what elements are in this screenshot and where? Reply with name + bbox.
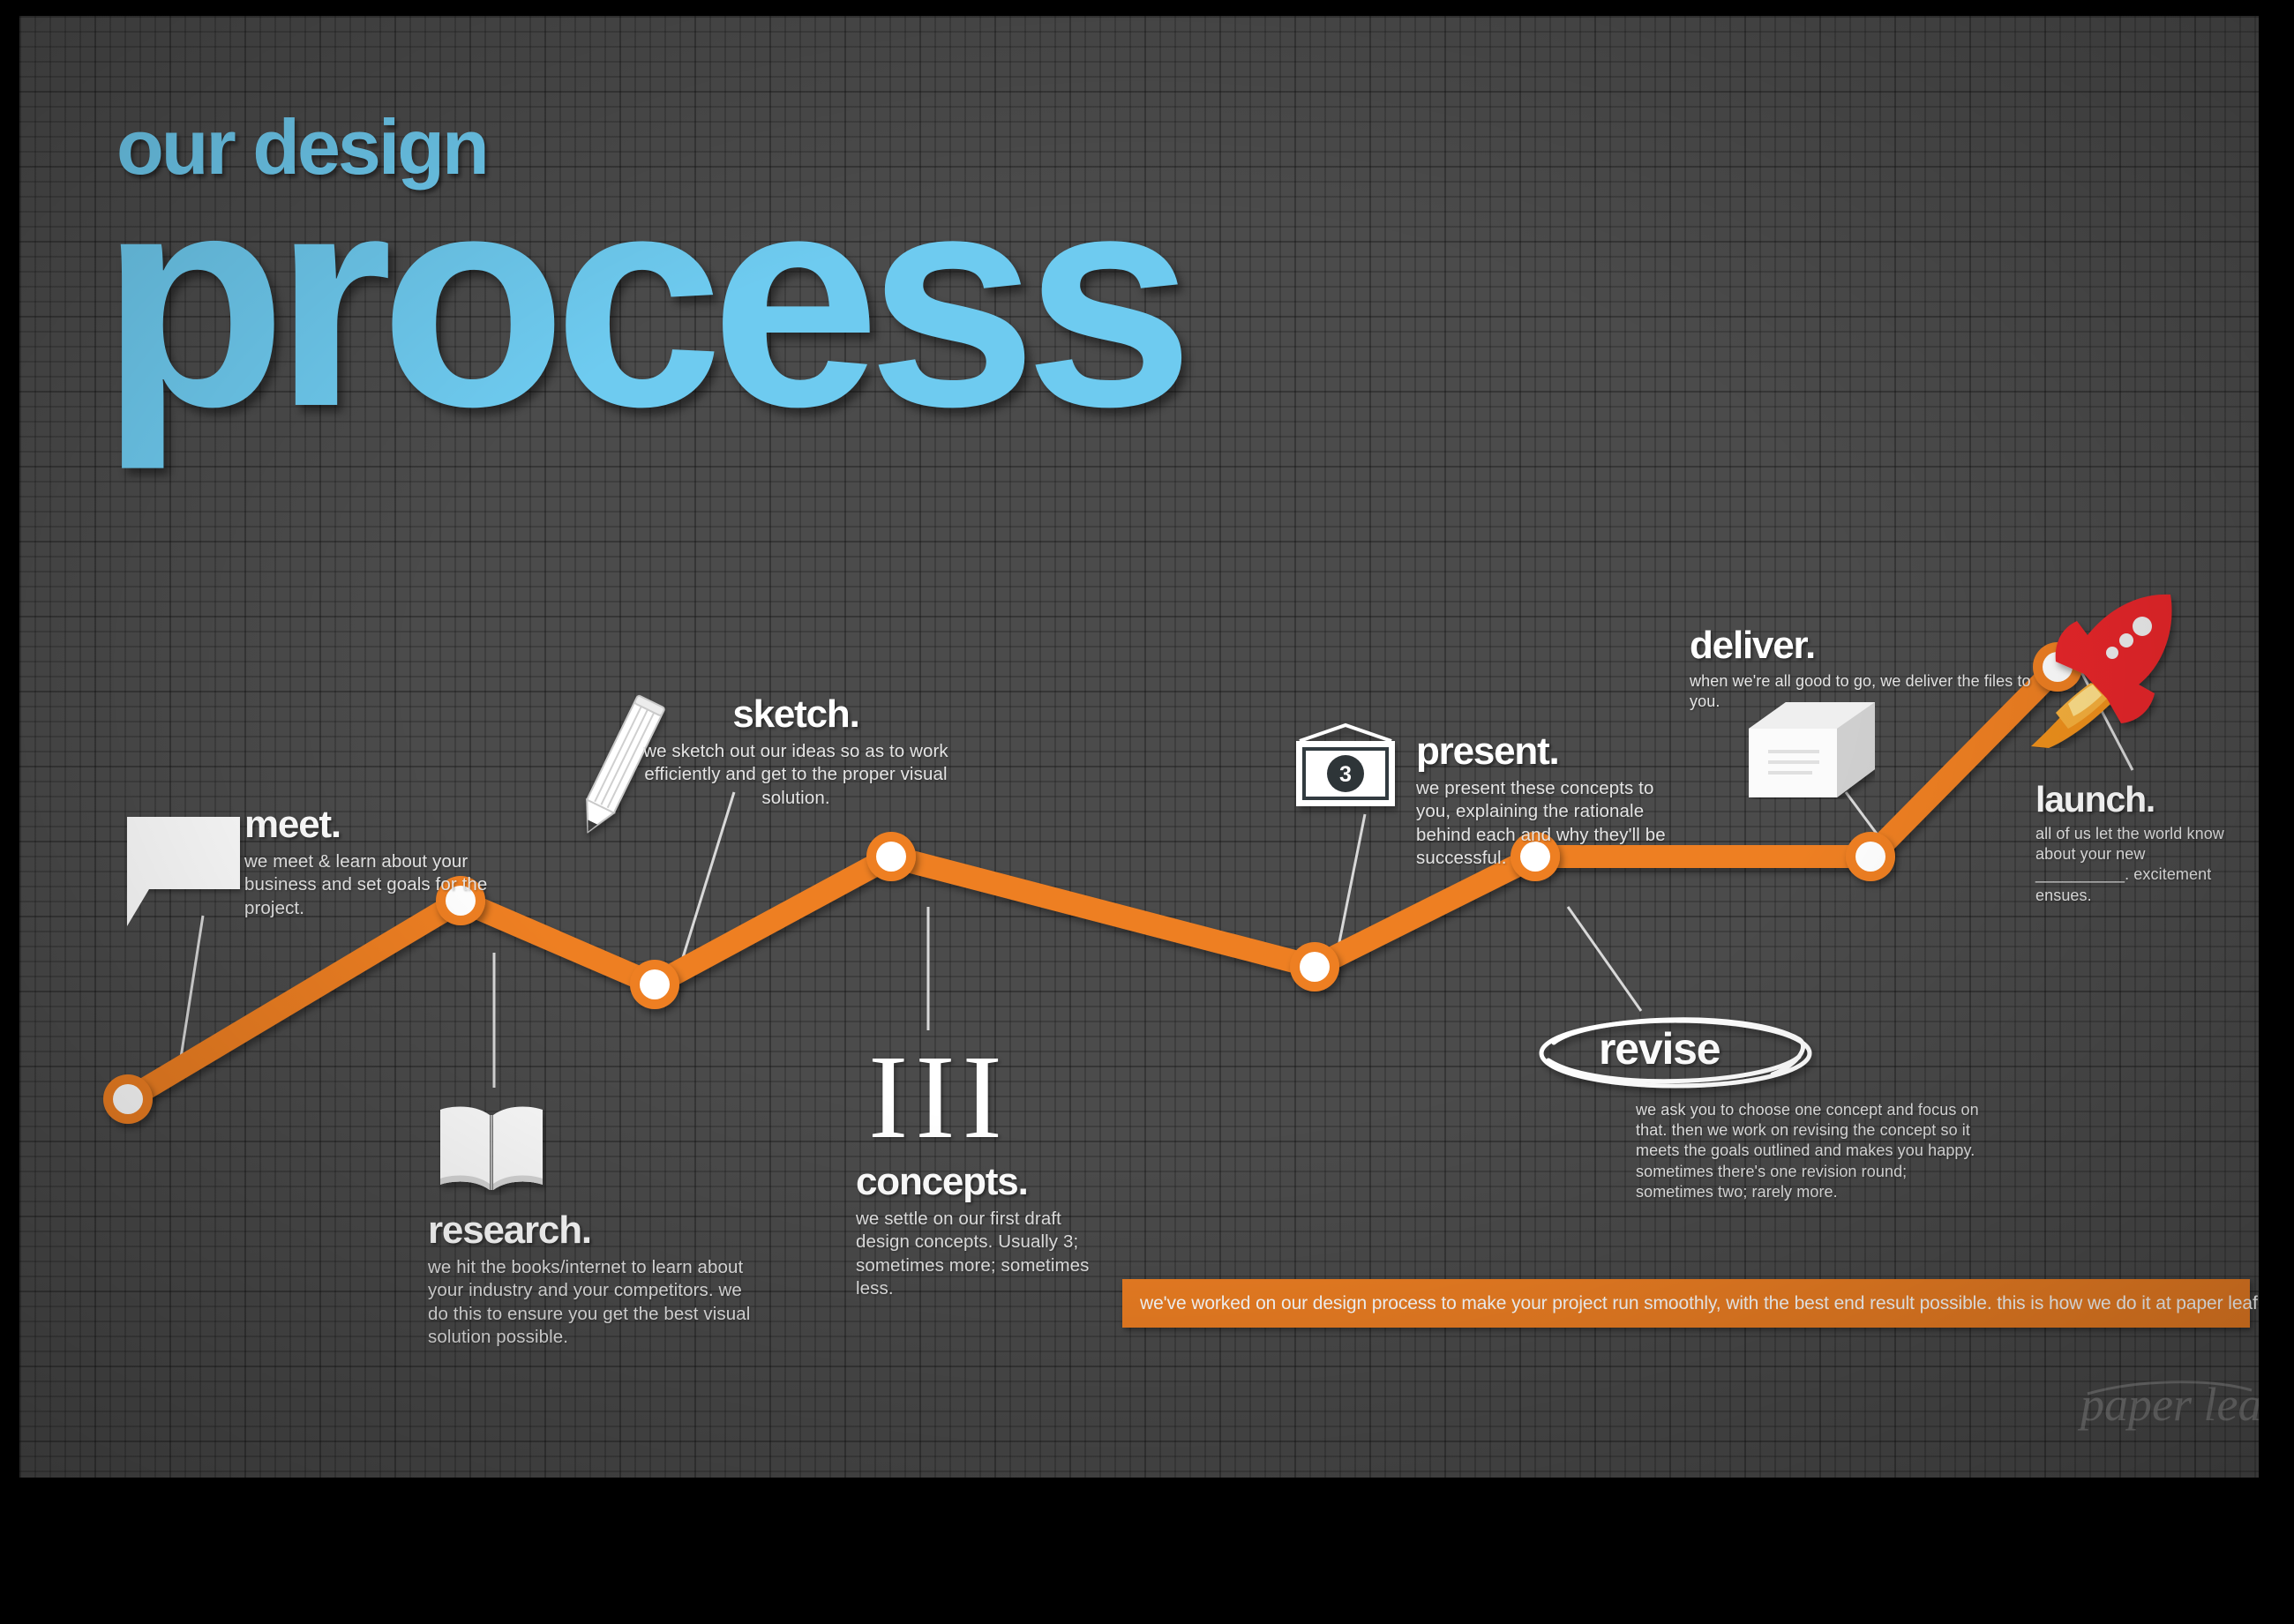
footer-banner: we've worked on our design process to ma… [1122,1279,2250,1328]
step-deliver-title: deliver. [1690,626,2060,665]
step-sketch-title: sketch. [641,695,950,734]
step-meet: meet. we meet & learn about your busines… [244,805,509,920]
roman-numeral-three-icon: III [868,1037,1009,1157]
step-deliver-desc: when we're all good to go, we deliver th… [1690,671,2060,712]
step-concepts-title: concepts. [856,1163,1112,1201]
step-concepts: concepts. we settle on our first draft d… [856,1163,1112,1301]
open-book-icon [437,1103,546,1195]
step-revise-title: revise [1599,1023,1720,1074]
step-research-desc: we hit the books/internet to learn about… [428,1256,763,1350]
step-concepts-desc: we settle on our first draft design conc… [856,1208,1112,1301]
step-launch-title: launch. [2035,782,2238,818]
projector-screen-icon: 3 [1293,722,1398,819]
footer-banner-text: we've worked on our design process to ma… [1122,1293,2259,1314]
step-deliver: deliver. when we're all good to go, we d… [1690,626,2060,712]
step-research: research. we hit the books/internet to l… [428,1211,763,1350]
present-badge-number: 3 [1339,762,1352,787]
step-meet-title: meet. [244,805,509,844]
step-revise: we ask you to choose one concept and foc… [1636,1094,1989,1202]
step-present: present. we present these concepts to yo… [1416,732,1672,871]
step-meet-desc: we meet & learn about your business and … [244,850,509,920]
paper-leaf-logo: paper leaf [2075,1367,2259,1438]
rocket-icon [2022,589,2181,748]
poster-canvas: our design process meet. we meet & learn… [19,16,2259,1478]
step-research-title: research. [428,1211,763,1250]
step-launch: launch. all of us let the world know abo… [2035,782,2238,906]
step-revise-desc: we ask you to choose one concept and foc… [1636,1100,1989,1202]
step-launch-desc: all of us let the world know about your … [2035,824,2238,906]
step-sketch-desc: we sketch out our ideas so as to work ef… [641,740,950,810]
package-box-icon [1749,702,1875,799]
step-sketch: sketch. we sketch out our ideas so as to… [641,695,950,810]
page-title: process [101,148,1181,453]
speech-bubble-icon [127,817,240,889]
step-present-title: present. [1416,732,1672,771]
step-present-desc: we present these concepts to you, explai… [1416,777,1672,871]
